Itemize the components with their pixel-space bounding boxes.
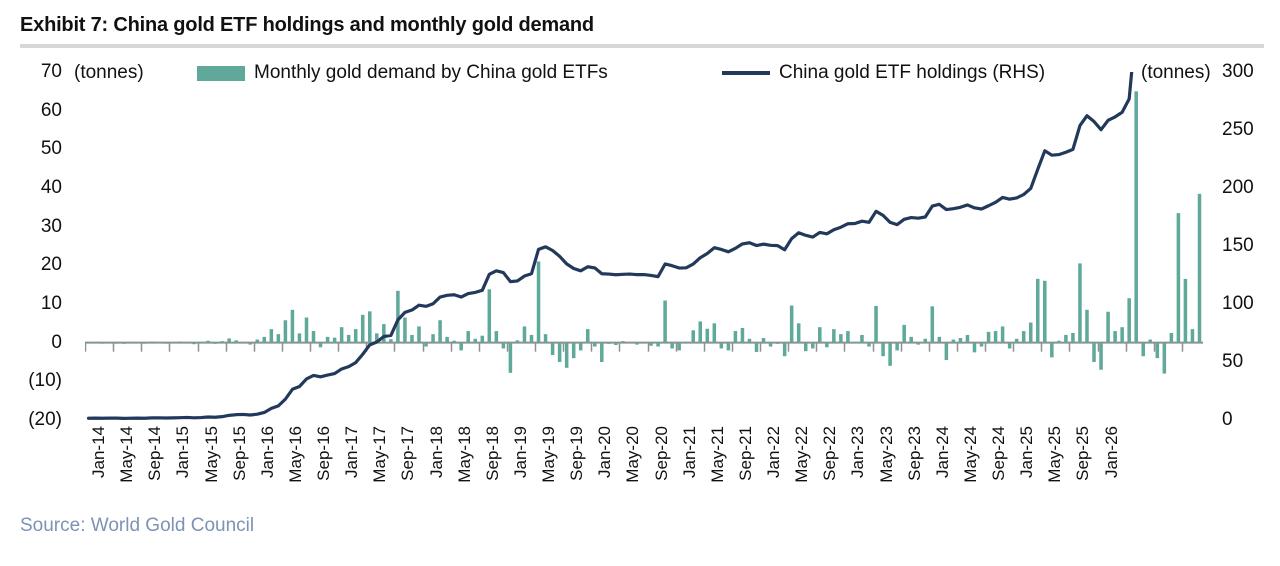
bar — [769, 343, 773, 347]
bar — [473, 339, 477, 343]
bar — [987, 332, 991, 343]
bar — [340, 327, 344, 342]
bar — [1113, 331, 1117, 343]
bar — [241, 342, 245, 343]
bar — [952, 340, 956, 343]
bar — [1170, 333, 1174, 343]
line-series — [89, 72, 1200, 418]
bar — [1008, 343, 1012, 349]
bar — [150, 342, 154, 343]
bar — [628, 342, 632, 343]
x-tick-label: Jan-15 — [173, 426, 193, 478]
bar — [382, 324, 386, 343]
bar — [438, 320, 442, 342]
bar — [1071, 333, 1075, 343]
x-tick-label: Sep-19 — [567, 426, 587, 481]
bar — [277, 334, 281, 343]
bar — [192, 343, 196, 345]
bar — [945, 343, 949, 360]
bar — [874, 306, 878, 343]
bar — [312, 331, 316, 343]
bar — [101, 343, 105, 344]
right-y-tick-label: 50 — [1222, 352, 1243, 371]
x-tick-label: Jan-19 — [511, 426, 531, 478]
bar — [1099, 343, 1103, 370]
bar — [445, 337, 449, 343]
bar — [143, 343, 147, 344]
x-tick-label: Sep-21 — [736, 426, 756, 481]
bar — [931, 306, 935, 342]
right-y-tick-label: 150 — [1222, 236, 1254, 255]
bar — [1149, 340, 1153, 343]
x-tick-label: May-19 — [539, 426, 559, 483]
bar — [178, 342, 182, 343]
bar — [122, 343, 126, 344]
bar — [1120, 327, 1124, 342]
bar — [495, 331, 499, 343]
bar — [973, 343, 977, 353]
bar — [305, 318, 309, 343]
bar — [1127, 298, 1131, 342]
plot-area — [85, 72, 1203, 420]
bar — [368, 311, 372, 342]
bar — [670, 343, 674, 349]
bar — [691, 330, 695, 342]
bar — [727, 343, 731, 351]
bar — [1198, 194, 1202, 343]
bar — [924, 339, 928, 343]
bar — [614, 343, 618, 345]
bar — [1036, 279, 1040, 343]
bar — [593, 343, 597, 347]
x-tick-label: Sep-17 — [398, 426, 418, 481]
bar — [966, 335, 970, 343]
left-y-tick-label: 30 — [41, 217, 62, 236]
bar — [523, 326, 527, 342]
bar — [298, 333, 302, 342]
bar — [980, 343, 984, 347]
bar — [565, 343, 569, 368]
x-tick-label: May-22 — [792, 426, 812, 483]
x-tick-label: May-20 — [623, 426, 643, 483]
bar — [1022, 331, 1026, 343]
bar — [1106, 312, 1110, 343]
bar — [347, 335, 351, 343]
bar — [1191, 329, 1195, 343]
x-tick-label: Sep-25 — [1073, 426, 1093, 481]
right-y-tick-label: 100 — [1222, 294, 1254, 313]
bar — [263, 337, 267, 343]
bar — [1177, 213, 1181, 343]
bar — [860, 335, 864, 343]
bar — [157, 342, 161, 343]
left-y-axis: 706050403020100(10)(20) — [0, 0, 62, 566]
bar — [642, 342, 646, 343]
bar — [1043, 281, 1047, 343]
x-tick-label: Jan-23 — [848, 426, 868, 478]
bar — [291, 310, 295, 343]
bar — [452, 341, 456, 343]
bar — [424, 343, 428, 347]
bar — [171, 342, 175, 343]
x-tick-label: Sep-22 — [820, 426, 840, 481]
bar — [1078, 263, 1082, 342]
x-tick-label: Sep-20 — [652, 426, 672, 481]
page-title: Exhibit 7: China gold ETF holdings and m… — [20, 14, 594, 37]
bar — [684, 342, 688, 343]
bar — [213, 343, 217, 344]
x-tick-label: Sep-15 — [230, 426, 250, 481]
bar — [804, 343, 808, 352]
x-tick-label: Jan-20 — [595, 426, 615, 478]
bar — [164, 343, 168, 344]
bar — [94, 342, 98, 343]
chart-canvas — [85, 72, 1203, 420]
bar — [466, 331, 470, 343]
x-tick-label: Jan-18 — [427, 426, 447, 478]
bar — [108, 342, 112, 343]
left-y-tick-label: (20) — [28, 410, 62, 429]
bar — [656, 343, 660, 347]
bar — [635, 343, 639, 345]
source-note: Source: World Gold Council — [20, 515, 254, 537]
bar — [867, 343, 871, 347]
bar — [895, 343, 899, 351]
x-tick-label: Jan-14 — [89, 426, 109, 478]
bar — [846, 331, 850, 343]
bar — [902, 325, 906, 343]
bar — [248, 343, 252, 345]
bar — [811, 343, 815, 349]
x-tick-label: Sep-18 — [483, 426, 503, 481]
bar — [1057, 341, 1061, 343]
bar — [1134, 91, 1138, 342]
bar — [403, 318, 407, 343]
bar — [1029, 323, 1033, 343]
x-tick-label: Jan-24 — [933, 426, 953, 478]
bar — [734, 331, 738, 343]
bar — [136, 342, 140, 343]
bar — [607, 343, 611, 344]
x-tick-label: Sep-24 — [989, 426, 1009, 481]
x-axis-labels: Jan-14May-14Sep-14Jan-15May-15Sep-15Jan-… — [85, 426, 1203, 516]
bar — [431, 334, 435, 343]
bar — [558, 343, 562, 362]
bar — [741, 328, 745, 343]
x-tick-label: May-24 — [961, 426, 981, 483]
bar — [234, 340, 238, 342]
chart-page: Exhibit 7: China gold ETF holdings and m… — [0, 0, 1280, 566]
bar — [706, 329, 710, 343]
bar — [544, 334, 548, 343]
bar — [1184, 279, 1188, 343]
bar — [1085, 310, 1089, 343]
bar — [783, 343, 787, 357]
bar — [502, 343, 506, 349]
bar — [579, 343, 583, 351]
bar — [797, 323, 801, 342]
left-y-tick-label: 40 — [41, 178, 62, 197]
bar — [516, 340, 520, 342]
bar — [354, 329, 358, 343]
right-y-tick-label: 200 — [1222, 178, 1254, 197]
bar — [994, 331, 998, 343]
bar — [389, 339, 393, 342]
right-y-axis: 300250200150100500 — [1222, 0, 1280, 566]
bar — [361, 315, 365, 343]
bar — [938, 337, 942, 343]
bar — [916, 343, 920, 345]
bar — [220, 341, 224, 343]
x-tick-label: Jan-25 — [1017, 426, 1037, 478]
bar — [818, 327, 822, 342]
bar — [621, 341, 625, 343]
bar — [776, 343, 780, 344]
x-tick-label: May-17 — [370, 426, 390, 483]
left-y-tick-label: 60 — [41, 101, 62, 120]
bar — [509, 343, 513, 373]
bar — [1050, 343, 1054, 358]
bar — [326, 337, 330, 343]
left-y-tick-label: 0 — [51, 333, 62, 352]
bar — [1156, 343, 1160, 358]
bar — [881, 343, 885, 357]
x-tick-label: May-23 — [877, 426, 897, 483]
bar — [1141, 343, 1145, 357]
bar — [762, 338, 766, 343]
bar — [284, 320, 288, 342]
bar — [1064, 335, 1068, 343]
bar — [333, 338, 337, 343]
bar — [1092, 343, 1096, 362]
left-y-tick-label: 50 — [41, 139, 62, 158]
bar — [572, 343, 576, 358]
bar — [530, 335, 534, 343]
x-tick-label: Jan-16 — [258, 426, 278, 478]
bar — [551, 343, 555, 355]
bar — [227, 338, 231, 342]
bar — [586, 329, 590, 343]
bar — [87, 342, 91, 343]
right-y-tick-label: 300 — [1222, 62, 1254, 81]
x-tick-label: Jan-22 — [764, 426, 784, 478]
left-y-tick-label: (10) — [28, 371, 62, 390]
bar — [319, 343, 323, 348]
bar — [1015, 339, 1019, 343]
bar — [459, 343, 463, 351]
bar — [888, 343, 892, 366]
bar — [832, 329, 836, 343]
bar — [537, 261, 541, 342]
x-tick-label: Sep-14 — [145, 426, 165, 481]
bar — [713, 323, 717, 342]
x-tick-label: Jan-21 — [680, 426, 700, 478]
left-y-tick-label: 20 — [41, 255, 62, 274]
left-y-tick-label: 10 — [41, 294, 62, 313]
bar — [185, 342, 189, 343]
bar — [909, 337, 913, 343]
bar — [853, 342, 857, 343]
bar — [649, 343, 653, 346]
bar — [600, 343, 604, 362]
x-tick-label: May-14 — [117, 426, 137, 483]
bar — [206, 341, 210, 343]
x-tick-label: May-15 — [202, 426, 222, 483]
bar-series — [87, 91, 1201, 373]
left-y-tick-label: 70 — [41, 62, 62, 81]
title-divider — [20, 44, 1264, 48]
bar — [755, 343, 759, 352]
bar — [720, 343, 724, 349]
bar — [825, 343, 829, 348]
x-tick-label: May-18 — [455, 426, 475, 483]
x-tick-label: Sep-23 — [905, 426, 925, 481]
bar — [199, 342, 203, 343]
bar — [256, 340, 260, 343]
x-tick-label: Sep-16 — [314, 426, 334, 481]
bar — [1163, 343, 1167, 374]
bar — [488, 289, 492, 342]
bar — [481, 336, 485, 343]
bar — [790, 306, 794, 343]
bar — [839, 334, 843, 343]
bar — [115, 343, 119, 344]
right-y-tick-label: 0 — [1222, 410, 1233, 429]
x-tick-label: May-21 — [708, 426, 728, 483]
bar — [663, 301, 667, 343]
bar — [748, 339, 752, 343]
bar — [959, 338, 963, 343]
x-tick-label: Jan-26 — [1102, 426, 1122, 478]
x-tick-label: May-16 — [286, 426, 306, 483]
x-tick-label: May-25 — [1045, 426, 1065, 483]
right-y-tick-label: 250 — [1222, 120, 1254, 139]
x-tick-label: Jan-17 — [342, 426, 362, 478]
bar — [417, 326, 421, 342]
bar — [1001, 326, 1005, 342]
bar — [698, 321, 702, 342]
bar — [677, 343, 681, 351]
bar — [270, 329, 274, 343]
bar — [129, 342, 133, 343]
bar — [410, 335, 414, 343]
